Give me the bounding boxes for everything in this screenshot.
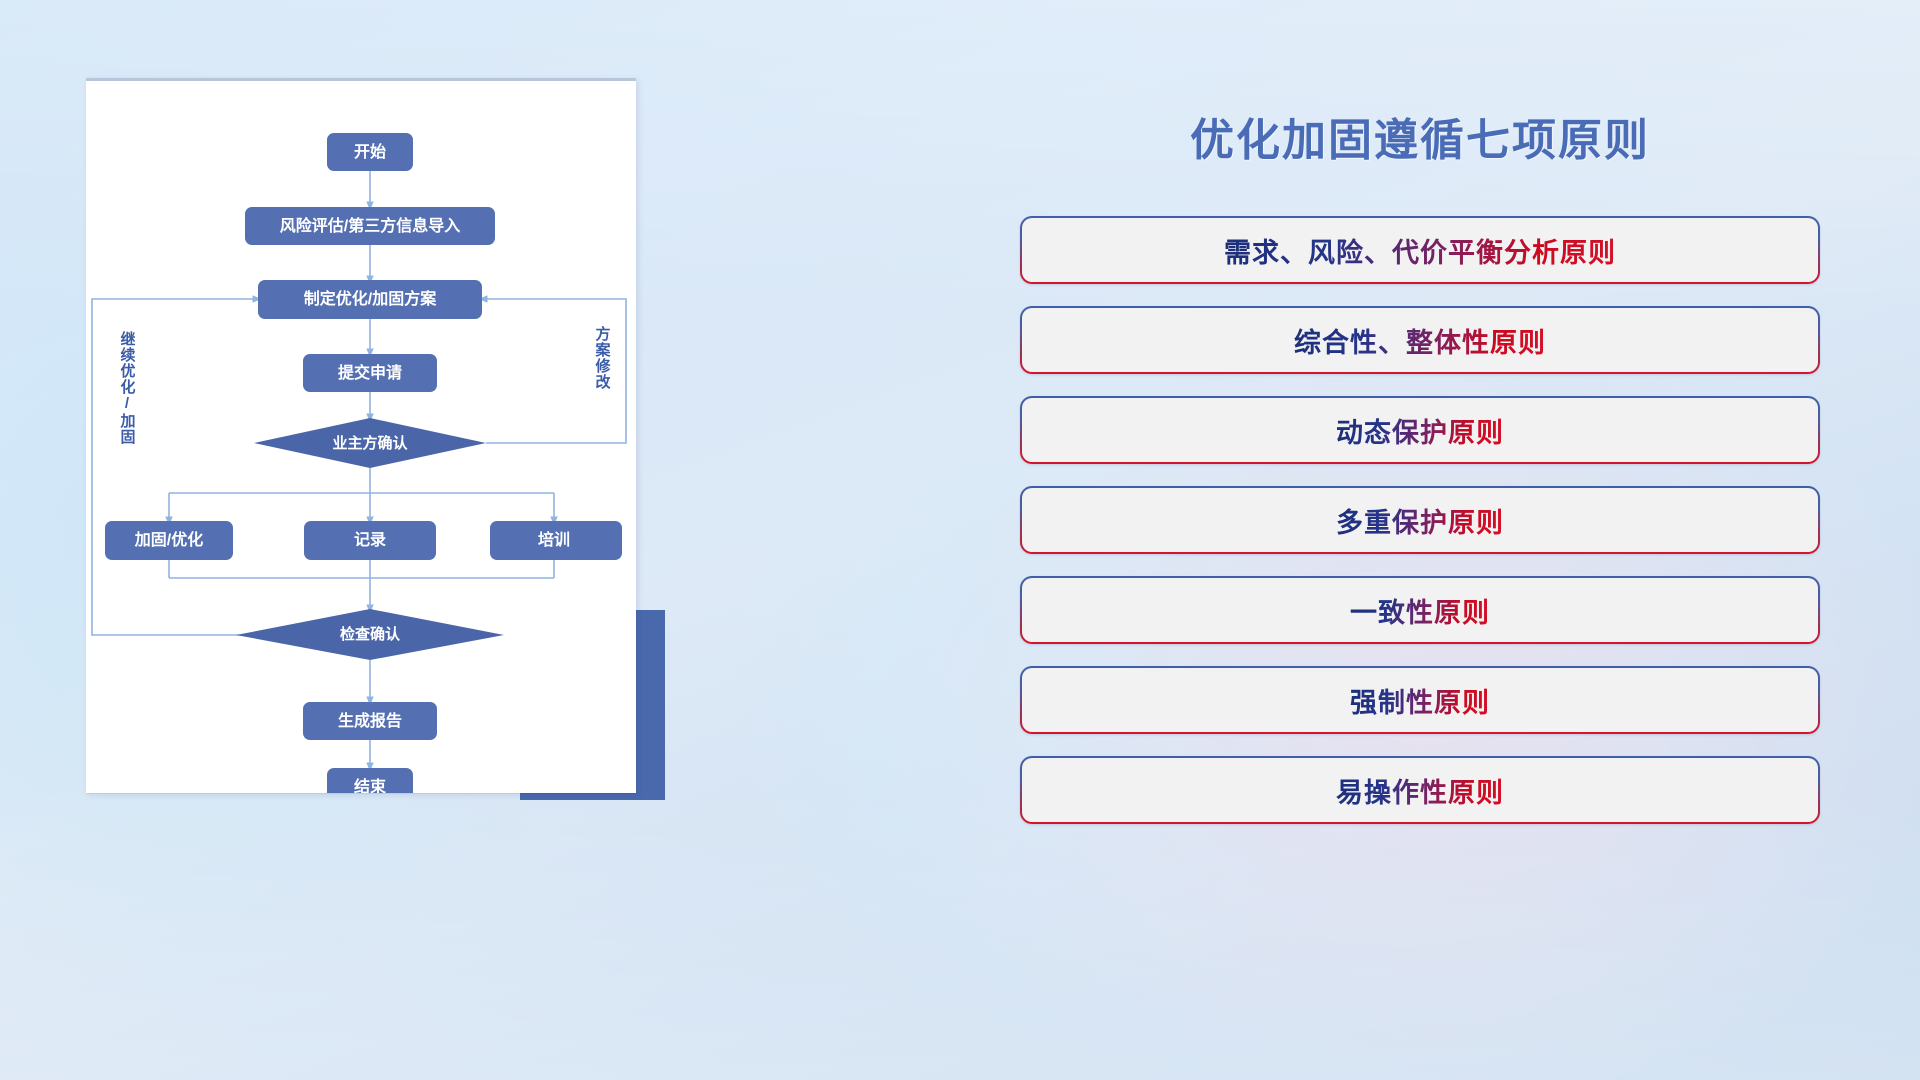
principle-item-3[interactable]: 动态保护原则 (1020, 396, 1820, 464)
principle-label: 一致性原则 (1350, 591, 1490, 630)
flow-node-generate-report-label: 生成报告 (338, 711, 402, 730)
flow-node-submit-application[interactable]: 提交申请 (303, 354, 437, 392)
principle-label: 易操作性原则 (1336, 771, 1504, 810)
page-title: 优化加固遵循七项原则 (1020, 104, 1820, 168)
flow-node-record-label: 记录 (354, 531, 386, 549)
flow-node-check-confirm[interactable]: 检查确认 (236, 609, 504, 660)
flow-node-record[interactable]: 记录 (304, 521, 436, 560)
principle-box[interactable]: 需求、风险、代价平衡分析原则 (1020, 216, 1820, 284)
flow-node-start-label: 开始 (354, 142, 386, 161)
flowchart-card: 开始 风险评估/第三方信息导入 制定优化/加固方案 提交申请 业主方确认 加固/… (86, 78, 636, 793)
flow-node-risk-assessment-label: 风险评估/第三方信息导入 (280, 216, 460, 235)
principle-box[interactable]: 多重保护原则 (1020, 486, 1820, 554)
principle-item-5[interactable]: 一致性原则 (1020, 576, 1820, 644)
flow-edge-label-left-loop: 继续优化/加固 (119, 330, 137, 445)
principle-label: 动态保护原则 (1336, 411, 1504, 450)
flow-node-owner-confirm-label: 业主方确认 (332, 434, 408, 452)
principle-label: 强制性原则 (1350, 681, 1490, 720)
principle-item-1[interactable]: 需求、风险、代价平衡分析原则 (1020, 216, 1820, 284)
flow-node-training[interactable]: 培训 (490, 521, 622, 560)
flow-node-end-label: 结束 (353, 777, 387, 793)
principle-list: 需求、风险、代价平衡分析原则 综合性、整体性原则 动态保护原则 多重保护原则 一… (1020, 216, 1820, 824)
flow-node-make-plan-label: 制定优化/加固方案 (304, 289, 437, 308)
principle-item-2[interactable]: 综合性、整体性原则 (1020, 306, 1820, 374)
principle-box[interactable]: 综合性、整体性原则 (1020, 306, 1820, 374)
flow-node-make-plan[interactable]: 制定优化/加固方案 (258, 280, 482, 319)
principle-item-6[interactable]: 强制性原则 (1020, 666, 1820, 734)
flow-node-end[interactable]: 结束 (327, 768, 413, 793)
flow-node-generate-report[interactable]: 生成报告 (303, 702, 437, 740)
principles-pane: 优化加固遵循七项原则 需求、风险、代价平衡分析原则 综合性、整体性原则 动态保护… (1020, 80, 1820, 1020)
principle-box[interactable]: 动态保护原则 (1020, 396, 1820, 464)
flow-node-start[interactable]: 开始 (327, 133, 413, 171)
flow-node-training-label: 培训 (538, 530, 570, 549)
flow-edge-label-right-loop: 方案修改 (594, 325, 612, 390)
principle-box[interactable]: 强制性原则 (1020, 666, 1820, 734)
flow-node-reinforce-label: 加固/优化 (134, 530, 203, 549)
principle-label: 需求、风险、代价平衡分析原则 (1224, 231, 1616, 270)
principle-label: 综合性、整体性原则 (1294, 321, 1546, 360)
principle-item-4[interactable]: 多重保护原则 (1020, 486, 1820, 554)
principle-box[interactable]: 一致性原则 (1020, 576, 1820, 644)
principle-label: 多重保护原则 (1336, 501, 1504, 540)
flow-node-submit-application-label: 提交申请 (338, 363, 402, 382)
flow-node-check-confirm-label: 检查确认 (340, 625, 401, 643)
flowchart-diagram: 开始 风险评估/第三方信息导入 制定优化/加固方案 提交申请 业主方确认 加固/… (86, 81, 636, 793)
principle-box[interactable]: 易操作性原则 (1020, 756, 1820, 824)
flow-node-risk-assessment[interactable]: 风险评估/第三方信息导入 (245, 207, 495, 245)
flow-node-owner-confirm[interactable]: 业主方确认 (254, 418, 486, 468)
principle-item-7[interactable]: 易操作性原则 (1020, 756, 1820, 824)
flow-node-reinforce[interactable]: 加固/优化 (105, 521, 233, 560)
